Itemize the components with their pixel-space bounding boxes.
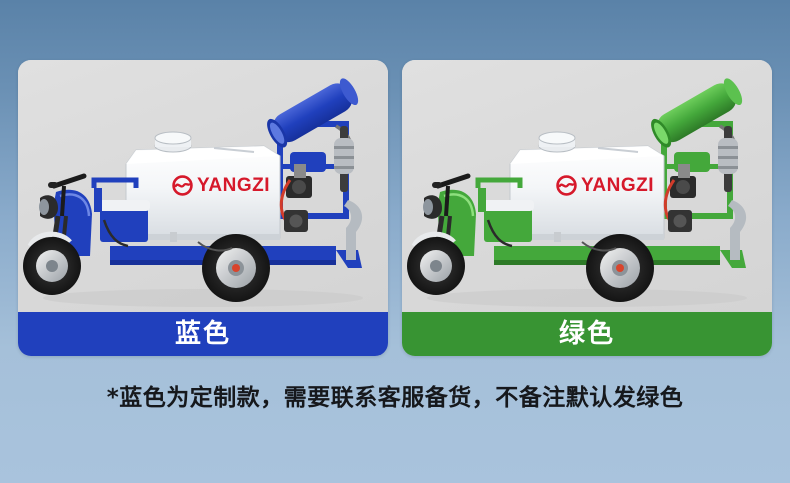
brand-logo-green: YANGZI: [556, 172, 678, 198]
product-photo-blue: YANGZI: [18, 60, 388, 312]
brand-logo-blue: YANGZI: [172, 172, 294, 198]
color-note-caption: *蓝色为定制款，需要联系客服备货，不备注默认发绿色: [0, 378, 790, 412]
color-label-text-green: 绿色: [559, 321, 615, 347]
brand-name-text: YANGZI: [197, 176, 270, 195]
product-photo-green: YANGZI: [402, 60, 772, 312]
color-label-bar-green[interactable]: 绿色: [402, 312, 772, 356]
color-label-text-blue: 蓝色: [175, 321, 231, 347]
yangzi-emblem-icon: [556, 175, 577, 196]
color-option-card-green[interactable]: YANGZI 绿色: [402, 60, 772, 356]
color-option-cards: YANGZI 蓝色: [18, 60, 772, 356]
brand-name-text: YANGZI: [581, 176, 654, 195]
color-label-bar-blue[interactable]: 蓝色: [18, 312, 388, 356]
yangzi-emblem-icon: [172, 175, 193, 196]
product-color-options-page: YANGZI 蓝色: [0, 0, 790, 483]
color-option-card-blue[interactable]: YANGZI 蓝色: [18, 60, 388, 356]
